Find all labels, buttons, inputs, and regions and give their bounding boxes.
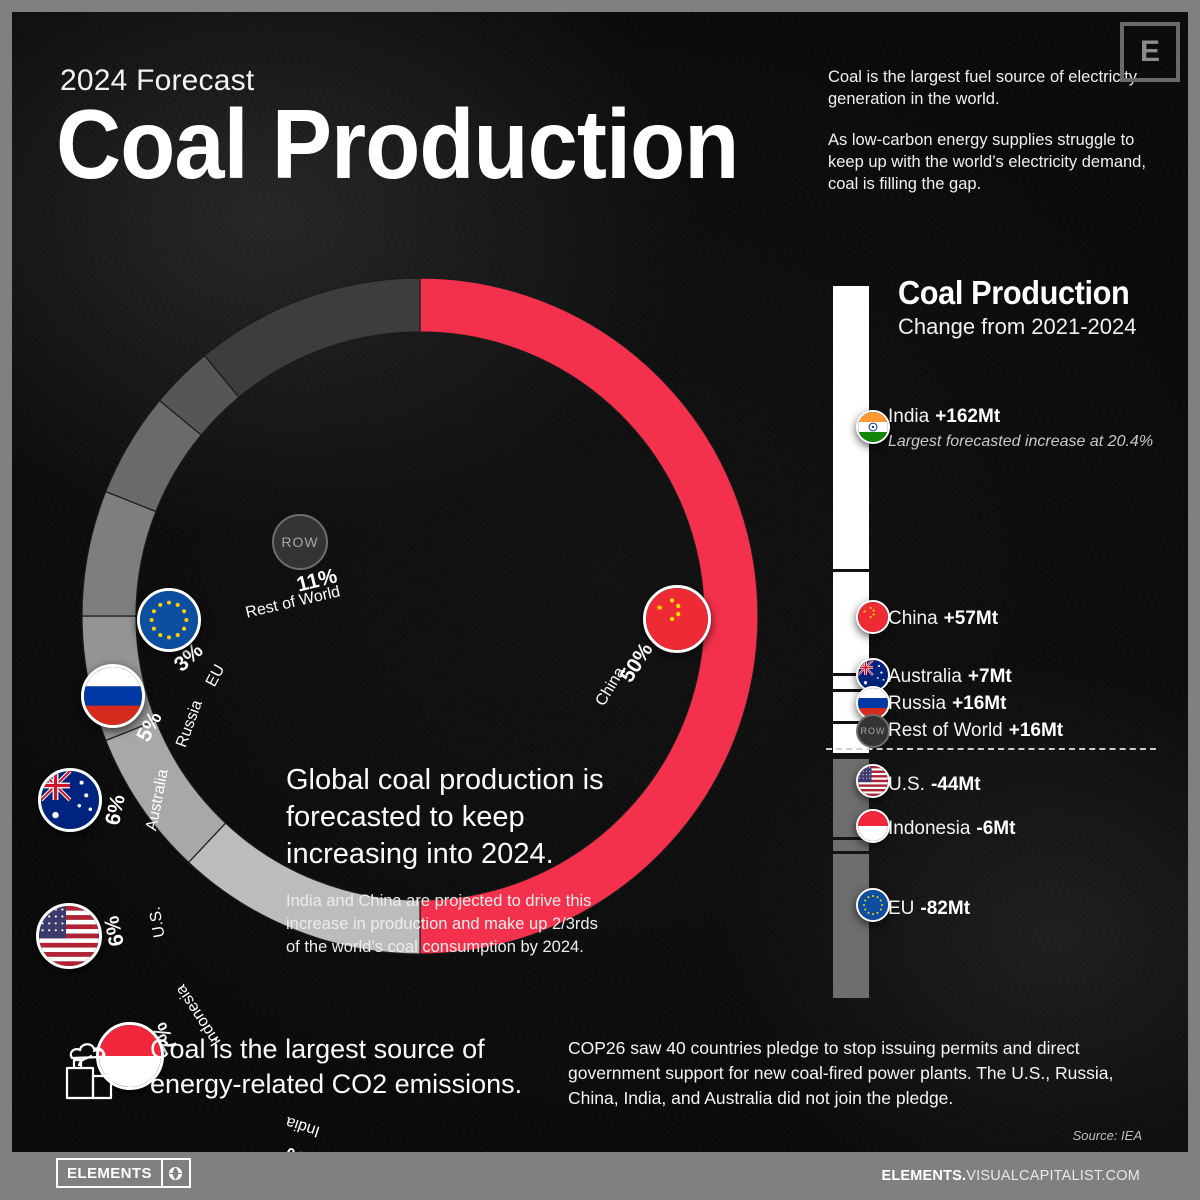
stacked-bar-column xyxy=(833,278,869,990)
panel-title: Coal Production xyxy=(898,274,1129,312)
bar-entry-name: Rest of World xyxy=(888,720,1003,741)
intro-paragraph-2: As low-carbon energy supplies struggle t… xyxy=(828,129,1173,196)
bar-entry-australia[interactable]: Australia+7Mt xyxy=(888,666,1012,688)
bar-entry-name: Indonesia xyxy=(888,818,970,839)
bar-entry-value: +162Mt xyxy=(935,406,1000,427)
bar-entry-indonesia[interactable]: Indonesia-6Mt xyxy=(888,818,1015,840)
bar-entry-name: China xyxy=(888,608,938,629)
left-border-bar xyxy=(0,0,12,1200)
factory-smokestack-icon xyxy=(62,1030,138,1102)
donut-center-text: Global coal production is forecasted to … xyxy=(286,762,616,959)
bar-entry-rest-of-world[interactable]: Rest of World+16Mt xyxy=(888,720,1063,742)
us-flag-icon[interactable] xyxy=(36,903,102,969)
bar-entry-value: +7Mt xyxy=(968,666,1012,687)
bar-entry-value: -6Mt xyxy=(976,818,1015,839)
footer-url-rest: VISUALCAPITALIST.COM xyxy=(966,1168,1140,1184)
right-border-bar xyxy=(1188,0,1200,1200)
bar-entry-india[interactable]: India+162MtLargest forecasted increase a… xyxy=(888,406,1153,452)
bar-entry-value: -44Mt xyxy=(931,774,981,795)
globe-icon xyxy=(168,1166,183,1181)
bar-entry-china[interactable]: China+57Mt xyxy=(888,608,998,630)
bar-entry-name: U.S. xyxy=(888,774,925,795)
bar-entry-eu[interactable]: EU-82Mt xyxy=(888,898,970,920)
page-title: Coal Production xyxy=(56,98,738,191)
donut-segment-rest-of-world[interactable] xyxy=(205,278,420,397)
infographic-canvas: 2024 Forecast Coal Production Coal is th… xyxy=(0,0,1200,1200)
production-change-panel: Coal Production Change from 2021-2024 In… xyxy=(826,270,1186,995)
intro-text-block: Coal is the largest fuel source of elect… xyxy=(828,66,1173,213)
bar-entry-name: EU xyxy=(888,898,914,919)
top-border-bar xyxy=(0,0,1200,12)
donut-label-india: India xyxy=(284,1112,323,1140)
source-credit: Source: IEA xyxy=(1073,1128,1142,1143)
cn-flag-icon[interactable] xyxy=(643,585,711,653)
co2-statement: Coal is the largest source of energy-rel… xyxy=(150,1032,570,1102)
bar-segment-eu[interactable] xyxy=(833,854,869,998)
cop26-statement: COP26 saw 40 countries pledge to stop is… xyxy=(568,1036,1128,1111)
panel-subtitle: Change from 2021-2024 xyxy=(898,314,1137,340)
bar-entry-russia[interactable]: Russia+16Mt xyxy=(888,693,1006,715)
bar-entry-note: Largest forecasted increase at 20.4% xyxy=(888,432,1153,452)
au-flag-icon[interactable] xyxy=(38,768,102,832)
bar-entry-value: +16Mt xyxy=(1009,720,1063,741)
bar-entry-value: +16Mt xyxy=(952,693,1006,714)
eu-flag-icon[interactable] xyxy=(137,588,201,652)
us-flag-icon[interactable] xyxy=(856,764,890,798)
row-badge-icon[interactable]: ROW xyxy=(856,714,890,748)
bar-entry-value: -82Mt xyxy=(920,898,970,919)
bar-entry-name: India xyxy=(888,406,929,427)
footer-url[interactable]: ELEMENTS.VISUALCAPITALIST.COM xyxy=(881,1168,1140,1184)
footer-url-bold: ELEMENTS. xyxy=(881,1168,966,1184)
bar-entry-name: Australia xyxy=(888,666,962,687)
center-lead-text: Global coal production is forecasted to … xyxy=(286,762,616,872)
eu-flag-icon[interactable] xyxy=(856,888,890,922)
bar-entry-name: Russia xyxy=(888,693,946,714)
center-sub-text: India and China are projected to drive t… xyxy=(286,890,616,958)
ru-flag-icon[interactable] xyxy=(81,664,145,728)
bar-entry-value: +57Mt xyxy=(944,608,998,629)
coal-production-donut-chart: 50%China11%Rest of World3%EU5%Russia6%Au… xyxy=(0,240,800,1000)
elements-brand-icon: E xyxy=(1120,22,1180,82)
bar-entry-u-s-[interactable]: U.S.-44Mt xyxy=(888,774,981,796)
elements-footer-logo[interactable]: ELEMENTS xyxy=(56,1158,191,1188)
elements-footer-logo-mark xyxy=(161,1160,189,1186)
bar-segment-indonesia[interactable] xyxy=(833,840,869,851)
id-flag-icon[interactable] xyxy=(856,809,890,843)
elements-footer-logo-text: ELEMENTS xyxy=(58,1160,161,1186)
row-badge-icon[interactable]: ROW xyxy=(272,514,328,570)
cn-flag-icon[interactable] xyxy=(856,600,890,634)
zero-baseline xyxy=(826,748,1156,750)
in-flag-icon[interactable] xyxy=(856,410,890,444)
